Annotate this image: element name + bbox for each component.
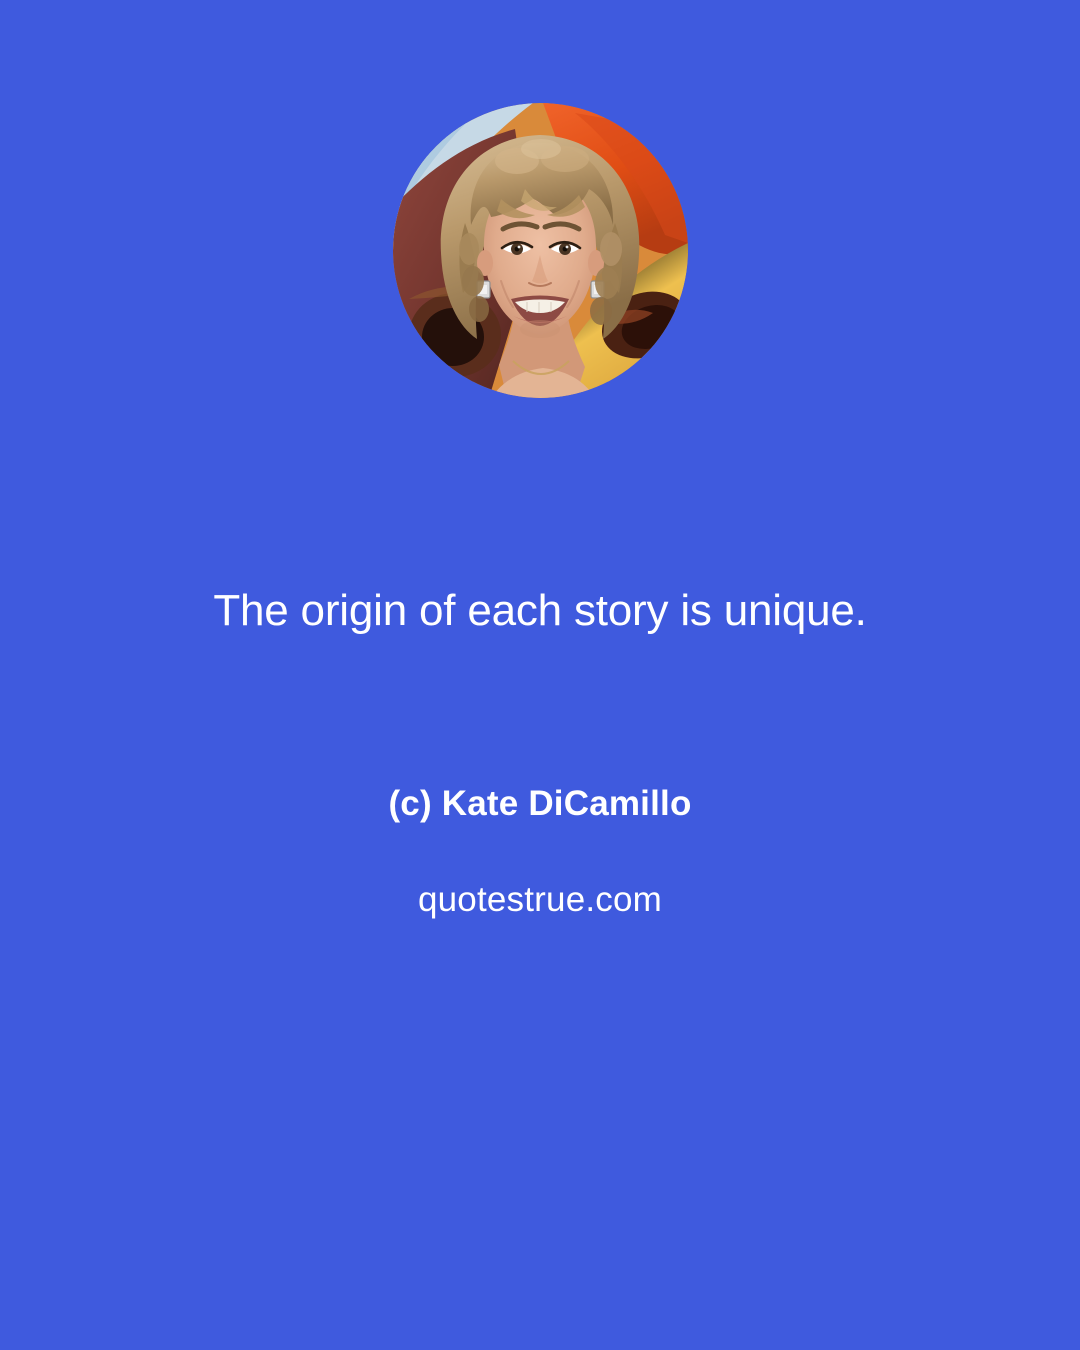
- author-portrait-avatar: [393, 103, 688, 398]
- quote-card: The origin of each story is unique. (c) …: [0, 0, 1080, 1350]
- quote-attribution: (c) Kate DiCamillo: [0, 784, 1080, 824]
- author-portrait-image: [393, 103, 688, 398]
- quote-text: The origin of each story is unique.: [0, 586, 1080, 636]
- site-watermark: quotestrue.com: [0, 880, 1080, 920]
